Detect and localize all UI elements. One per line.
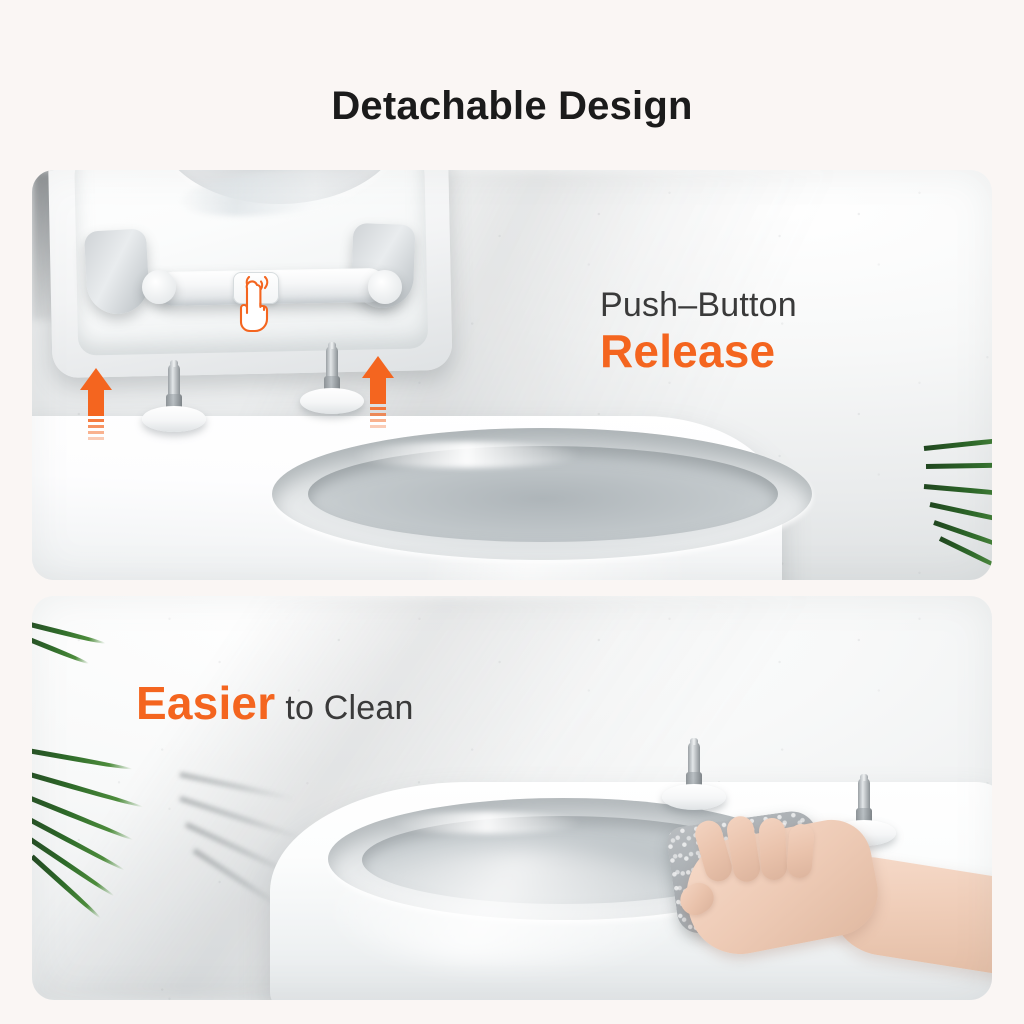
callout-top-line1: Push–Button [600, 286, 920, 324]
mount-post-bottom-left [662, 736, 726, 810]
page-title: Detachable Design [0, 84, 1024, 129]
callout-push-button-release: Push–Button Release [600, 286, 920, 378]
toilet-rim-highlight-bottom [392, 812, 582, 834]
mount-post-right [300, 342, 364, 414]
callout-bottom-line1: Easier [136, 677, 275, 729]
panel-easier-to-clean [32, 596, 992, 1000]
lift-arrow-left [80, 368, 112, 440]
lift-arrow-right [362, 356, 394, 428]
hinge-cap-left [142, 270, 176, 304]
lid-hinge-bracket-left [84, 228, 150, 315]
hinge-cap-right [368, 270, 402, 304]
toilet-bowl-highlight-bottom [332, 846, 692, 966]
hand-wiping [678, 814, 992, 1000]
toilet-seat-lid [50, 170, 470, 424]
press-hand-icon [236, 276, 278, 334]
finger-ring [758, 817, 787, 880]
palm-leaf-top-right [924, 438, 992, 568]
callout-top-line2: Release [600, 326, 920, 378]
finger-pinky [786, 823, 815, 879]
callout-bottom-line2: to Clean [285, 689, 413, 727]
palm-leaf-bottom-left [32, 746, 156, 906]
mount-post-left [142, 360, 206, 432]
callout-easier-to-clean: Easierto Clean [136, 676, 414, 730]
toilet-rim-highlight-top [352, 442, 582, 468]
palm-leaf-bottom-upper [32, 616, 132, 656]
